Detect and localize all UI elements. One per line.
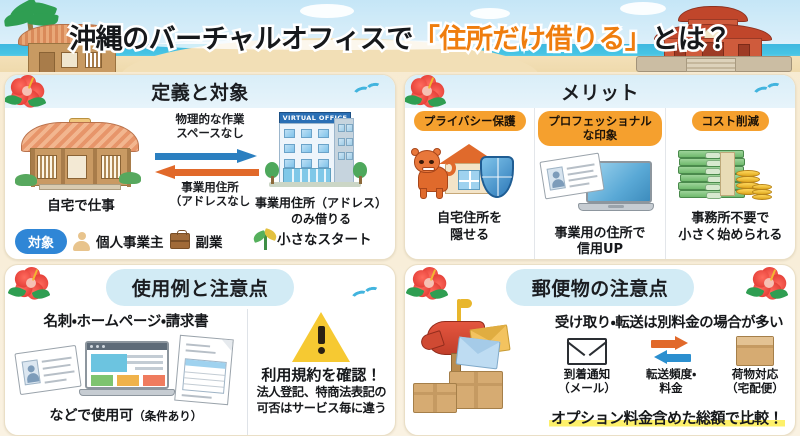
page-title-highlight: 「住所だけ借りる」 [413, 24, 652, 55]
target-item-label-0: 個人事業主 [96, 231, 164, 251]
briefcase-icon [170, 233, 190, 249]
hibiscus-center [26, 278, 36, 288]
exclamation-dot [318, 347, 325, 354]
house-body [30, 148, 130, 186]
mail-option-caption-line1: 転送頻度・ [632, 367, 710, 381]
warning-heading: 利用規約を確認！ [252, 364, 391, 385]
house-column [93, 149, 97, 187]
hibiscus-petal [409, 76, 429, 97]
mail-option-caption-line1: 到着通知 [548, 367, 626, 381]
building-window [338, 124, 345, 132]
merit-pill-2: コスト削減 [692, 111, 770, 131]
merit-caption-line1: 事業用の住所で [554, 226, 645, 243]
envelope-icon [548, 333, 626, 367]
building-wing [334, 118, 354, 183]
card-avatar [22, 359, 41, 385]
merit-item: プロフェッショナル な印象 [534, 108, 664, 259]
mail-option-caption-line2: （宅配便） [716, 381, 794, 395]
mail-heading: 受け取り・転送は別料金の場合が多い [541, 311, 796, 332]
building-entrance [283, 168, 331, 183]
house-panel [67, 155, 87, 179]
hibiscus-flower-icon [413, 267, 447, 299]
hibiscus-stamen [28, 77, 34, 89]
hibiscus-leaf [770, 286, 789, 302]
building-window [301, 144, 312, 153]
exclamation-bar [318, 326, 325, 344]
business-card-laptop-icon [540, 149, 660, 225]
hibiscus-petal [9, 88, 30, 108]
hibiscus-petal [411, 280, 432, 300]
virtual-office-building-icon: VIRTUAL OFFICE [269, 112, 361, 198]
virtual-office-caption: 事業用住所（アドレス） のみ借りる [247, 196, 395, 227]
hibiscus-petal [426, 79, 447, 101]
usage-warning-column: 利用規約を確認！ 法人登記、特商法表記の 可否はサービス毎に違う [247, 309, 395, 435]
building-window [318, 129, 329, 138]
mail-options-row: 到着通知 （メール） [545, 333, 796, 405]
tree-icon [353, 162, 367, 184]
shisa-eye [429, 160, 434, 164]
hibiscus-leaf [406, 284, 425, 300]
arrow-top-label: 物理的な作業 スペースなし [151, 112, 269, 140]
hibiscus-petal [30, 271, 51, 293]
browser-base [79, 389, 175, 396]
merit-pill-1: プロフェッショナル な印象 [538, 111, 662, 146]
building-window [346, 152, 353, 160]
shisa-head [414, 150, 440, 173]
hibiscus-center [22, 86, 32, 96]
hibiscus-petal [760, 266, 779, 284]
hibiscus-petal [13, 280, 34, 300]
shisa-house-shield-icon [410, 134, 530, 210]
house-base [39, 184, 121, 190]
warning-body: 法人登記、特商法表記の 可否はサービス毎に違う [252, 385, 391, 417]
arrow-top-label-line1: 物理的な作業 [151, 112, 269, 126]
hibiscus-flower-icon [411, 75, 445, 107]
wave-curve [765, 81, 783, 95]
building-window [338, 152, 345, 160]
hibiscus-center [422, 86, 432, 96]
panel-definition: 定義と対象 [4, 74, 396, 260]
mail-option-caption: 荷物対応 （宅配便） [716, 367, 794, 396]
house-window [458, 170, 480, 190]
usage-artwork [9, 335, 243, 403]
package-box-icon [716, 333, 794, 367]
hibiscus-leaf [8, 284, 27, 300]
hibiscus-stamen [32, 269, 38, 281]
usage-caption-sub: （条件あり） [133, 409, 202, 423]
hibiscus-leaf [4, 92, 22, 108]
arrow-right-blue [155, 152, 259, 161]
mail-option-caption-line2: 料金 [632, 381, 710, 395]
house-column [61, 149, 65, 187]
ocean-wave-icon [351, 287, 383, 305]
laptop-trackpad [608, 205, 624, 208]
wave-curve [363, 285, 381, 299]
hibiscus-petal [420, 266, 439, 284]
mail-option-caption: 転送頻度・ 料金 [632, 367, 710, 396]
usage-heading: 名刺・ホームページ・請求書 [9, 310, 243, 331]
arrow-left-orange [155, 168, 259, 177]
wave-curve [752, 85, 773, 102]
exchange-arrows-icon [632, 333, 710, 367]
merit-item: プライバシー保護 [405, 108, 534, 259]
house-sliding-door [101, 155, 121, 179]
panel-definition-body: 物理的な作業 スペースなし 事業用住所 （アドレスなし [5, 108, 395, 259]
building-window [346, 124, 353, 132]
hibiscus-petal [9, 76, 29, 97]
panel-merit-header: メリット [405, 75, 795, 108]
mail-option-caption: 到着通知 （メール） [548, 367, 626, 396]
page-title-part1: 沖縄のバーチャルオフィスで [69, 24, 413, 55]
ocean-wave-icon [353, 83, 385, 101]
package-box-shape [736, 336, 774, 366]
merit-pill-line1: プロフェッショナル [548, 114, 652, 128]
panel-grid: 定義と対象 [0, 72, 800, 436]
panel-mail: 郵便物の注意点 [404, 264, 796, 436]
merit-pill-0: プライバシー保護 [414, 111, 526, 131]
mail-option-item: 転送頻度・ 料金 [632, 333, 710, 405]
hibiscus-flower-icon [11, 75, 45, 107]
shisa-leg [436, 188, 443, 199]
home-caption: 自宅で仕事 [21, 194, 141, 214]
envelope-shape [567, 338, 607, 365]
wave-curve [365, 81, 383, 95]
hibiscus-flower-icon [15, 267, 49, 299]
okinawa-house-icon [21, 116, 139, 190]
small-start-label: 小さなスタート [277, 228, 396, 248]
hibiscus-stamen [430, 269, 436, 281]
sprout-icon [255, 228, 275, 250]
package-box-icon [413, 383, 457, 413]
warning-triangle-icon [292, 312, 350, 362]
hibiscus-petal [751, 268, 771, 289]
browser-toolbar [87, 343, 167, 350]
ocean-wave-icon [753, 83, 785, 101]
vo-caption-line2: のみ借りる [247, 212, 395, 228]
page-title-part2: とは？ [651, 24, 731, 55]
target-audience-row: 対象 個人事業主 副業 [15, 228, 265, 254]
warning-body-line1: 法人登記、特商法表記の [252, 385, 391, 401]
usage-caption: などで使用可（条件あり） [9, 405, 243, 425]
hibiscus-petal [422, 280, 444, 303]
hibiscus-leaf [430, 286, 449, 302]
merit-caption-line2: 信用UP [554, 242, 645, 259]
coin-stack [736, 158, 778, 202]
usage-caption-main: などで使用可 [50, 408, 134, 424]
panel-definition-title: 定義と対象 [151, 78, 249, 105]
vo-caption-line1: 事業用住所（アドレス） [247, 196, 395, 212]
panel-merit-body: プライバシー保護 [405, 108, 795, 259]
building-window [318, 159, 329, 168]
mail-option-item: 到着通知 （メール） [548, 333, 626, 405]
building-ground [269, 182, 361, 187]
merit-pill-line2: な印象 [548, 128, 652, 142]
invoice-table [182, 358, 227, 394]
panel-usage: 使用例と注意点 名刺・ホームページ・請求書 [4, 264, 396, 436]
merit-caption-0: 自宅住所を 隠せる [437, 211, 502, 244]
building-window [284, 159, 295, 168]
building-window [301, 159, 312, 168]
usage-examples-column: 名刺・ホームページ・請求書 [5, 309, 247, 435]
card-avatar [547, 166, 566, 190]
house-sliding-door [37, 155, 57, 179]
merit-caption-line1: 自宅住所を [437, 211, 502, 228]
hibiscus-leaf [32, 286, 51, 302]
hibiscus-petal [26, 79, 47, 101]
hibiscus-petal [18, 74, 37, 91]
header-banner: 沖縄のバーチャルオフィスで「住所だけ借りる」とは？ [0, 0, 800, 72]
warning-body-line2: 可否はサービス毎に違う [252, 401, 391, 417]
status-badge: 対象 [15, 229, 67, 254]
merit-item: コスト削減 [665, 108, 795, 259]
hibiscus-petal [22, 266, 41, 284]
arrow-head [237, 149, 257, 163]
website-laptop-icon [79, 341, 175, 403]
hibiscus-center [764, 278, 774, 288]
page-title: 沖縄のバーチャルオフィスで「住所だけ借りる」とは？ [0, 0, 800, 72]
hibiscus-flower-icon [753, 267, 787, 299]
merit-caption-2: 事務所不要で 小さく始められる [678, 211, 782, 244]
building-window [318, 144, 329, 153]
hibiscus-stamen [770, 269, 776, 281]
shisa-lion-icon [412, 148, 456, 200]
hibiscus-petal [24, 280, 46, 303]
hibiscus-petal [428, 271, 449, 293]
person-icon [73, 232, 90, 251]
invoice-document-icon [174, 335, 234, 405]
building-window [284, 129, 295, 138]
mail-option-caption-line1: 荷物対応 [716, 367, 794, 381]
hibiscus-petal [418, 74, 437, 91]
mail-option-caption-line2: （メール） [548, 381, 626, 395]
hibiscus-petal [768, 271, 789, 293]
panel-mail-body: 受け取り・転送は別料金の場合が多い 到着通知 （メール） [405, 309, 795, 435]
hibiscus-petal [751, 280, 772, 300]
wave-curve [352, 85, 373, 102]
building-window [346, 138, 353, 146]
browser-hero-block [91, 354, 127, 372]
target-item-label-1: 副業 [196, 231, 223, 251]
building-window [301, 129, 312, 138]
merit-caption-line2: 隠せる [437, 228, 502, 245]
hibiscus-petal [409, 88, 430, 108]
arrow-shaft [155, 153, 239, 160]
panel-usage-header: 使用例と注意点 [5, 265, 395, 309]
infographic-root: 沖縄のバーチャルオフィスで「住所だけ借りる」とは？ 定義と対象 [0, 0, 800, 436]
arrow-top-label-line2: スペースなし [151, 126, 269, 140]
flow-arrows: 物理的な作業 スペースなし 事業用住所 （アドレスなし [151, 112, 269, 190]
browser-screen [85, 341, 169, 389]
arrow-head [155, 165, 175, 179]
mail-footer: オプション料金含めた総額で比較！ [533, 407, 796, 428]
building-window [284, 144, 295, 153]
money-coins-icon [670, 134, 790, 210]
business-card-icon [14, 345, 81, 395]
arrow-shaft [175, 169, 259, 176]
arrow-bottom-label-line1: 事業用住所 [145, 180, 275, 194]
panel-usage-body: 名刺・ホームページ・請求書 [5, 309, 395, 435]
hibiscus-center [424, 278, 434, 288]
shisa-mouth [422, 167, 435, 171]
panel-mail-title: 郵便物の注意点 [506, 269, 695, 306]
hibiscus-leaf [404, 92, 422, 108]
merit-caption-line1: 事務所不要で [678, 211, 782, 228]
panel-usage-title: 使用例と注意点 [106, 269, 295, 306]
panel-merit-title: メリット [561, 78, 639, 105]
hibiscus-petal [762, 280, 784, 303]
panel-definition-header: 定義と対象 [5, 75, 395, 108]
package-box-icon [449, 371, 503, 409]
hibiscus-petal [13, 268, 33, 289]
banknote-band [720, 152, 735, 196]
merit-caption-1: 事業用の住所で 信用UP [554, 226, 645, 259]
tree-icon [265, 162, 279, 184]
bush-icon [15, 174, 37, 186]
panel-merit: メリット プライバシー保護 [404, 74, 796, 260]
hibiscus-leaf [746, 284, 765, 300]
envelope-icon [455, 337, 500, 370]
merit-caption-line2: 小さく始められる [678, 228, 782, 245]
hibiscus-stamen [428, 77, 434, 89]
exchange-arrows-shape [651, 337, 691, 367]
hibiscus-petal [411, 268, 431, 289]
building-window [338, 138, 345, 146]
shisa-leg [420, 188, 427, 199]
mailbox-letters-packages-icon [411, 309, 541, 431]
mail-footer-text: オプション料金含めた総額で比較！ [549, 409, 785, 427]
mail-option-item: 荷物対応 （宅配便） [716, 333, 794, 405]
shisa-eye [419, 160, 424, 164]
wave-curve [350, 289, 371, 306]
bush-icon [119, 172, 141, 184]
